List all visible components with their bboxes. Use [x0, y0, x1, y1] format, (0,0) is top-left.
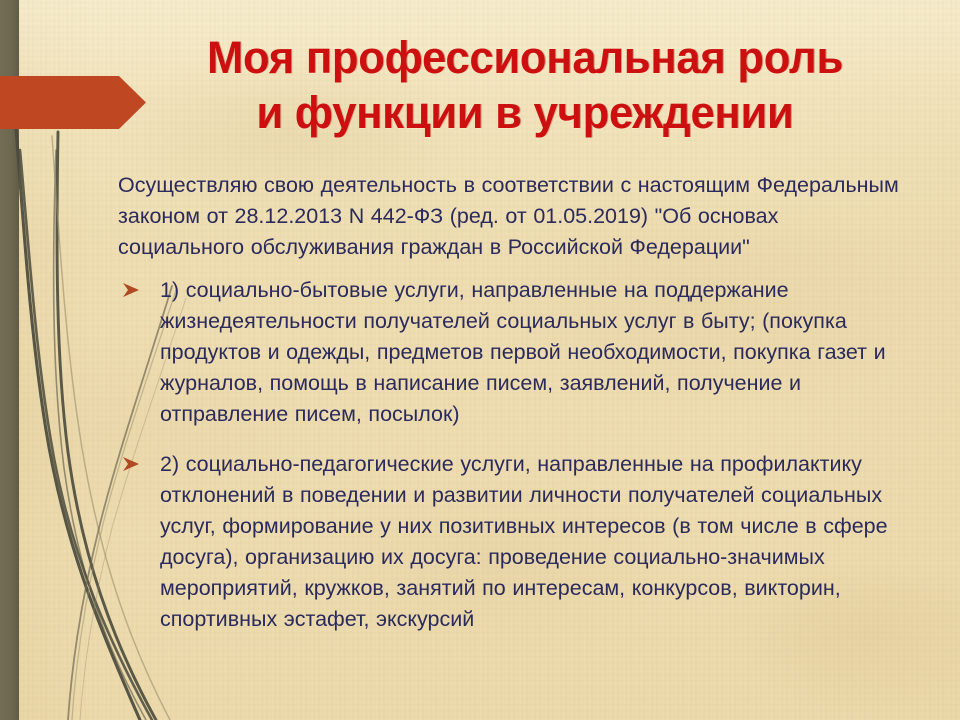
- arrowhead-bullet-icon: [122, 456, 140, 472]
- slide-title: Моя профессиональная роль и функции в уч…: [120, 30, 930, 140]
- list-item: 2) социально-педагогические услуги, напр…: [118, 449, 908, 635]
- intro-paragraph: Осуществляю свою деятельность в соответс…: [118, 170, 908, 263]
- arrowhead-bullet-icon: [122, 282, 140, 298]
- services-bullet-list: 1) социально-бытовые услуги, направленны…: [118, 275, 908, 635]
- list-item: 1) социально-бытовые услуги, направленны…: [118, 275, 908, 430]
- slide-body: Осуществляю свою деятельность в соответс…: [118, 170, 908, 635]
- presentation-slide: Моя профессиональная роль и функции в уч…: [0, 0, 960, 720]
- list-item-text: 1) социально-бытовые услуги, направленны…: [160, 278, 886, 426]
- slide-title-line-2: и функции в учреждении: [132, 85, 918, 140]
- list-item-text: 2) социально-педагогические услуги, напр…: [160, 452, 888, 631]
- slide-title-line-1: Моя профессиональная роль: [132, 30, 918, 85]
